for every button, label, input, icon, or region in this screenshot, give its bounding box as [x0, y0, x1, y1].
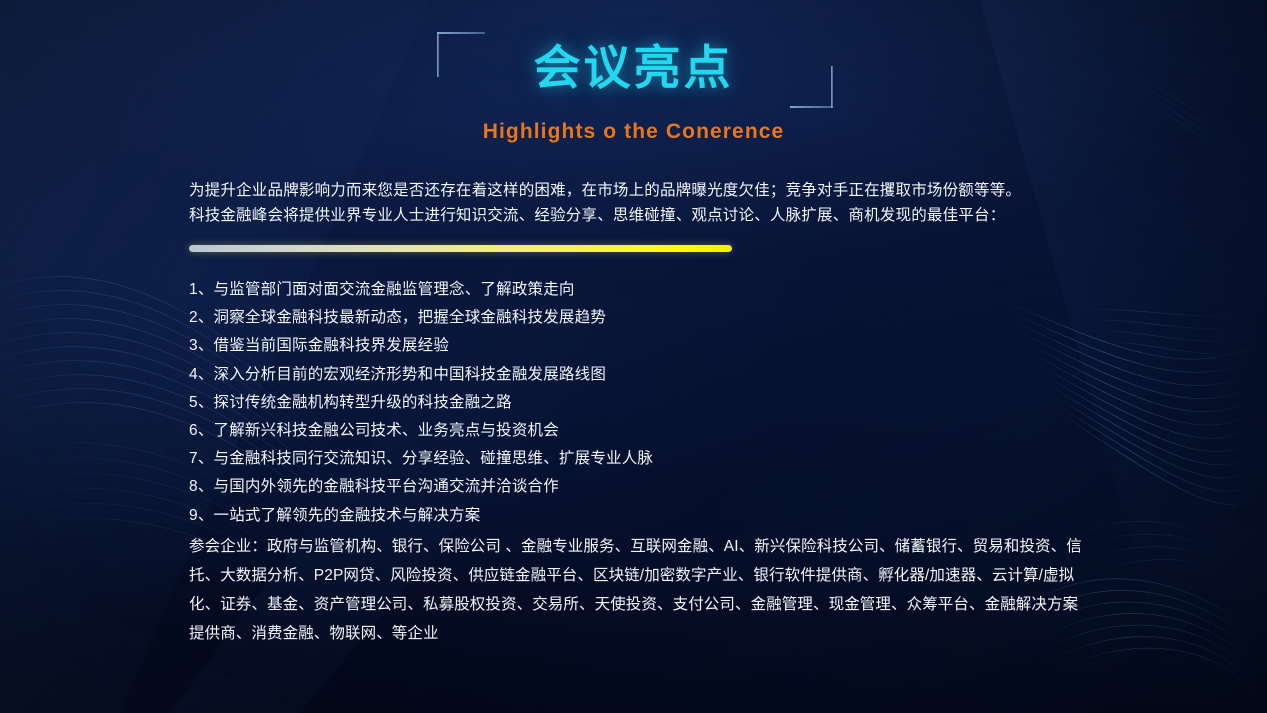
companies-line: 提供商、消费金融、物联网、等企业	[189, 619, 1121, 648]
slide-canvas: 会议亮点 Highlights o the Conerence 为提升企业品牌影…	[0, 0, 1267, 713]
gradient-divider-bar	[189, 245, 732, 252]
participating-companies-paragraph: 参会企业：政府与监管机构、银行、保险公司 、金融专业服务、互联网金融、AI、新兴…	[189, 532, 1121, 648]
highlights-list: 1、与监管部门面对面交流金融监管理念、了解政策走向 2、洞察全球金融科技最新动态…	[189, 276, 1134, 530]
list-item: 1、与监管部门面对面交流金融监管理念、了解政策走向	[189, 276, 1134, 304]
page-subtitle: Highlights o the Conerence	[0, 120, 1267, 144]
list-item: 4、深入分析目前的宏观经济形势和中国科技金融发展路线图	[189, 361, 1134, 389]
list-item: 3、借鉴当前国际金融科技界发展经验	[189, 332, 1134, 360]
companies-line: 参会企业：政府与监管机构、银行、保险公司 、金融专业服务、互联网金融、AI、新兴…	[189, 532, 1121, 561]
companies-line: 托、大数据分析、P2P网贷、风险投资、供应链金融平台、区块链/加密数字产业、银行…	[189, 561, 1121, 590]
list-item: 6、了解新兴科技金融公司技术、业务亮点与投资机会	[189, 417, 1134, 445]
list-item: 9、一站式了解领先的金融技术与解决方案	[189, 502, 1134, 530]
intro-line-1: 为提升企业品牌影响力而来您是否还存在着这样的困难，在市场上的品牌曝光度欠佳；竞争…	[189, 178, 1134, 203]
intro-paragraph: 为提升企业品牌影响力而来您是否还存在着这样的困难，在市场上的品牌曝光度欠佳；竞争…	[189, 178, 1134, 228]
list-item: 8、与国内外领先的金融科技平台沟通交流并洽谈合作	[189, 473, 1134, 501]
page-title: 会议亮点	[0, 42, 1267, 95]
slide-body: 为提升企业品牌影响力而来您是否还存在着这样的困难，在市场上的品牌曝光度欠佳；竞争…	[189, 178, 1134, 648]
list-item: 2、洞察全球金融科技最新动态，把握全球金融科技发展趋势	[189, 304, 1134, 332]
list-item: 5、探讨传统金融机构转型升级的科技金融之路	[189, 389, 1134, 417]
companies-line: 化、证券、基金、资产管理公司、私募股权投资、交易所、天使投资、支付公司、金融管理…	[189, 590, 1121, 619]
intro-line-2: 科技金融峰会将提供业界专业人士进行知识交流、经验分享、思维碰撞、观点讨论、人脉扩…	[189, 203, 1134, 228]
slide-header: 会议亮点 Highlights o the Conerence	[0, 0, 1267, 165]
list-item: 7、与金融科技同行交流知识、分享经验、碰撞思维、扩展专业人脉	[189, 445, 1134, 473]
